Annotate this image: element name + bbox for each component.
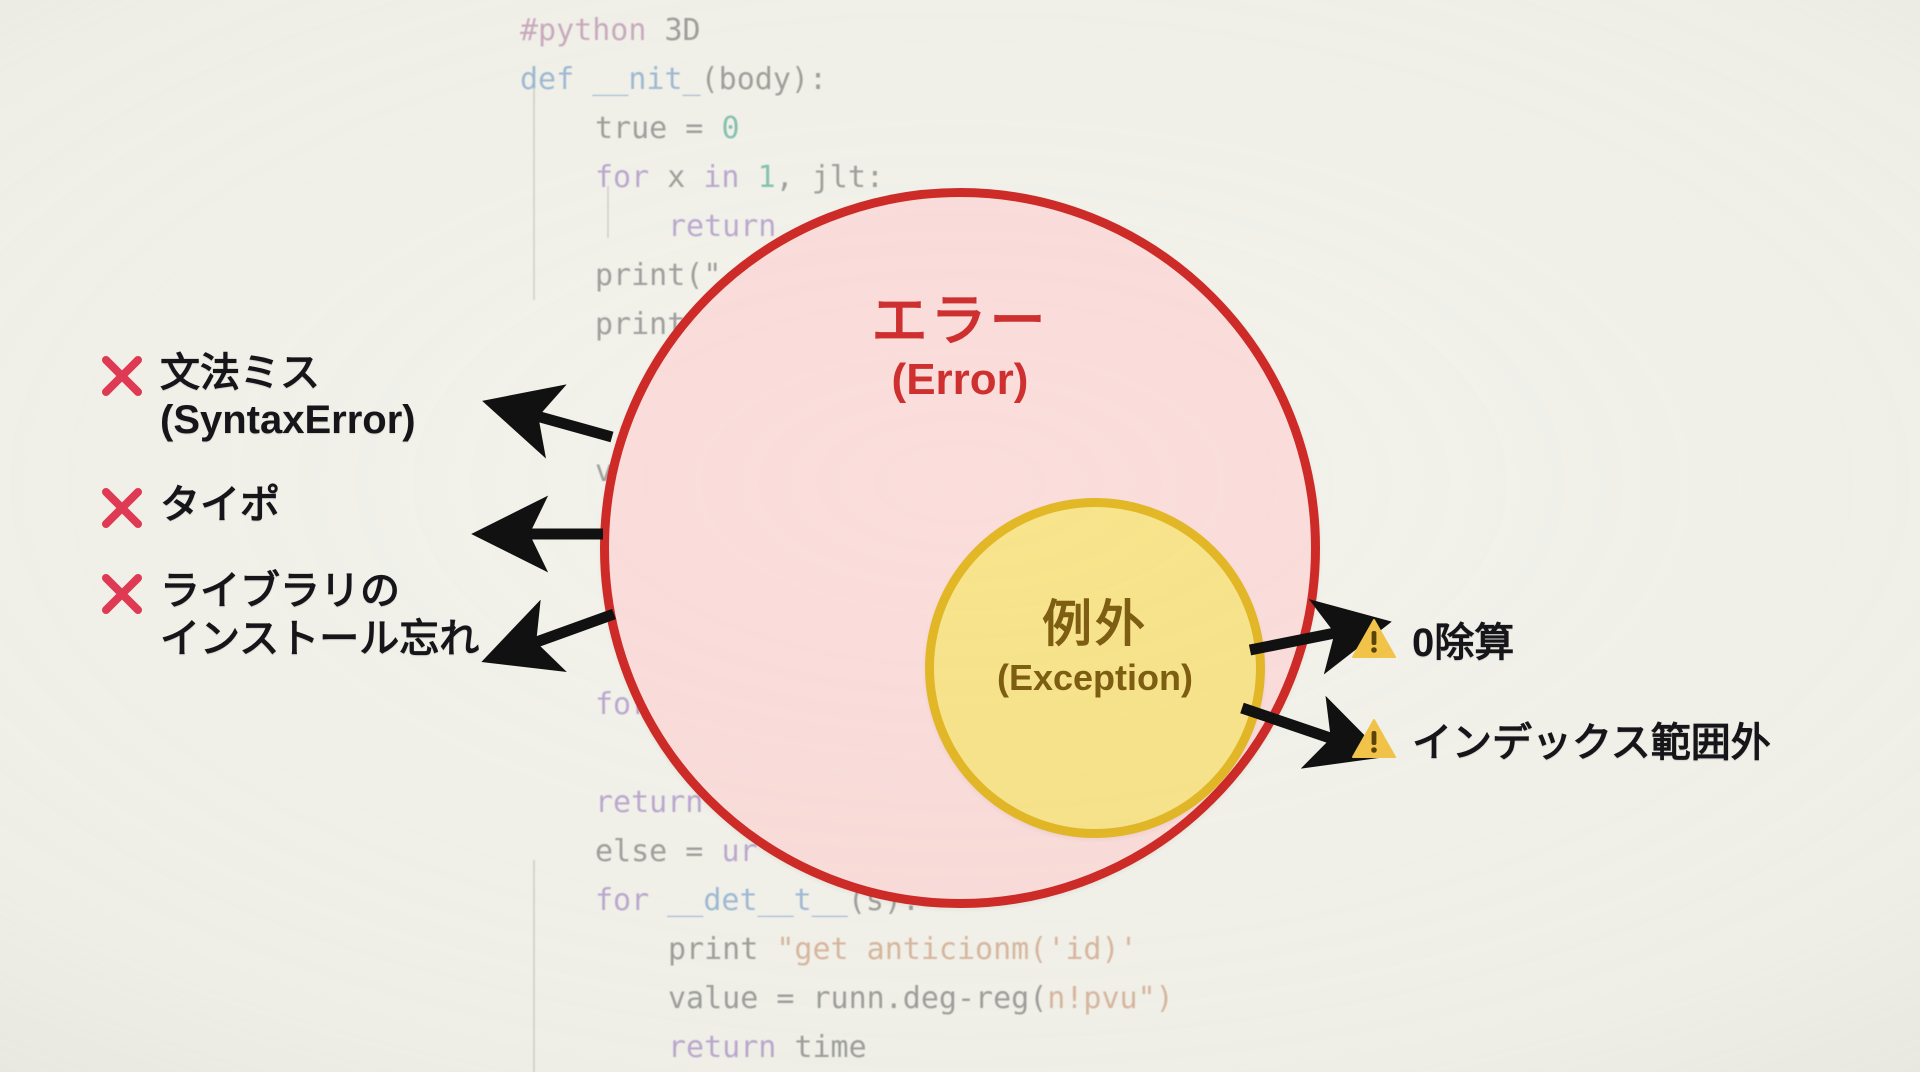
list-item-line: インストール忘れ [160,616,479,663]
list-item-line: 文法ミス [160,350,416,397]
list-item-text: 文法ミス (SyntaxError) [160,350,416,444]
list-item[interactable]: インデックス範囲外 [1352,710,1771,768]
exception-examples-list: 0除算 インデックス範囲外 [1352,610,1771,810]
arrow-zero-division [1250,632,1340,650]
list-item-text: インデックス範囲外 [1412,710,1771,768]
list-item[interactable]: ライブラリの インストール忘れ [100,568,560,662]
list-item[interactable]: 0除算 [1352,610,1771,668]
cross-mark-icon [100,486,144,530]
list-item-text: 0除算 [1412,610,1514,668]
list-item-text: ライブラリの インストール忘れ [160,568,479,662]
cross-mark-icon [100,354,144,398]
list-item[interactable]: タイポ [100,482,560,530]
warning-triangle-icon [1352,718,1396,760]
list-item-line: タイポ [160,482,280,529]
cross-mark-icon [100,572,144,616]
list-item-line: ライブラリの [160,568,479,615]
error-causes-list: 文法ミス (SyntaxError) タイポ ライブラリの インストール忘れ [100,350,560,701]
list-item-text: タイポ [160,482,280,529]
list-item-line: (SyntaxError) [160,397,416,444]
list-item[interactable]: 文法ミス (SyntaxError) [100,350,560,444]
arrow-index-out-of-range [1242,708,1336,740]
diagram-canvas: #python 3Ddef __nit_(body):true = 0for x… [0,0,1920,1072]
warning-triangle-icon [1352,618,1396,660]
